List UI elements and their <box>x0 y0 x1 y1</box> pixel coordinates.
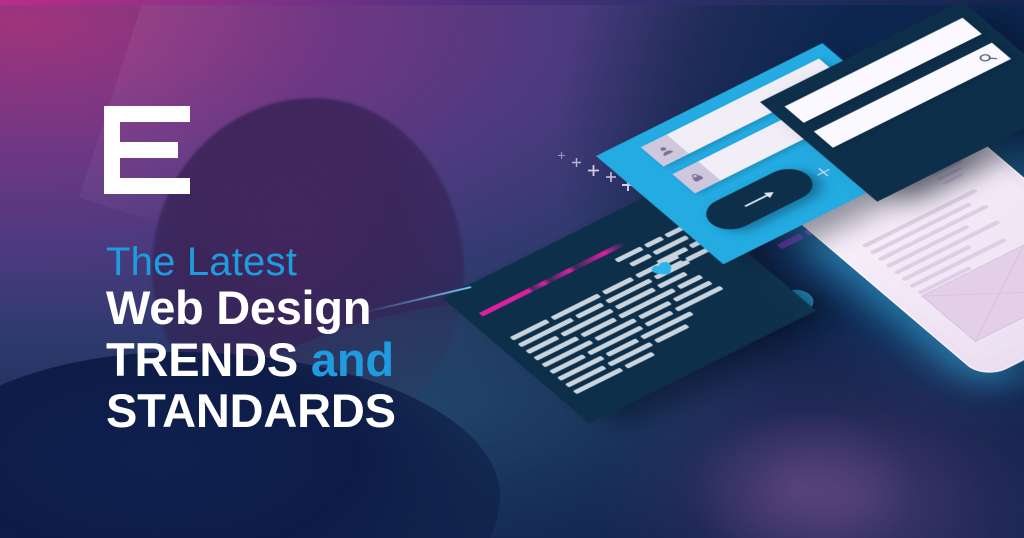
headline-word-and: and <box>311 333 394 386</box>
article-text-lines <box>510 242 771 397</box>
sparkle-icon <box>606 172 616 182</box>
hero-banner: The Latest Web Design TRENDS and STANDAR… <box>0 0 1024 538</box>
arrow-right-icon <box>740 188 778 210</box>
stylized-letter-e-logo-icon <box>104 106 190 194</box>
headline-word-trends: TRENDS <box>106 333 298 386</box>
heart-icon[interactable] <box>647 259 680 280</box>
sparkle-icon <box>588 165 599 176</box>
brand-logo[interactable] <box>104 106 190 194</box>
isometric-ui-illustration <box>430 118 1024 498</box>
magnifier-icon <box>975 50 999 65</box>
sparkle-icon <box>572 158 581 167</box>
background-top-strip <box>0 0 1024 5</box>
sparkle-icon <box>558 152 565 159</box>
